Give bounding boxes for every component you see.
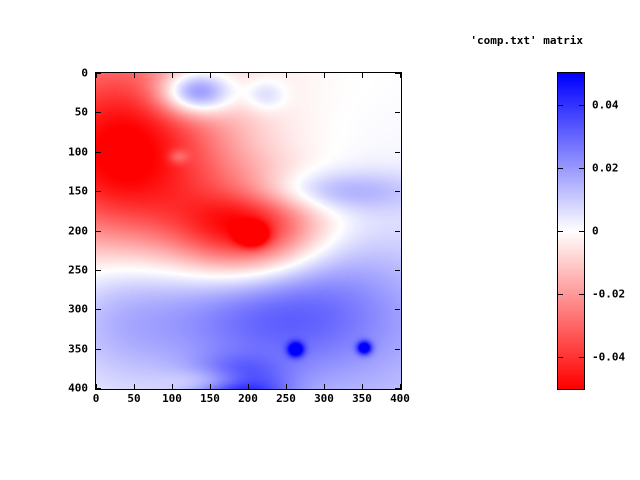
heatmap-canvas[interactable] <box>96 73 401 389</box>
y-tick-mark <box>96 388 101 389</box>
colorbar-tick-label: -0.02 <box>592 287 625 300</box>
x-tick-mark <box>400 384 401 389</box>
colorbar-tick-label: -0.04 <box>592 350 625 363</box>
x-tick-label: 300 <box>314 392 334 405</box>
y-tick-label: 200 <box>68 224 88 237</box>
x-tick-mark-top <box>210 73 211 78</box>
x-tick-mark-top <box>324 73 325 78</box>
colorbar-tick-label: 0 <box>592 224 599 237</box>
y-tick-label: 400 <box>68 382 88 395</box>
y-tick-label: 350 <box>68 342 88 355</box>
y-tick-mark <box>96 231 101 232</box>
colorbar-tick-mark-right <box>579 105 584 106</box>
x-tick-mark-top <box>134 73 135 78</box>
x-tick-mark-top <box>286 73 287 78</box>
y-tick-label: 250 <box>68 263 88 276</box>
y-tick-mark <box>96 349 101 350</box>
colorbar-tick-mark <box>558 294 563 295</box>
y-tick-mark-right <box>395 231 400 232</box>
x-tick-label: 100 <box>162 392 182 405</box>
heatmap-plot-area[interactable] <box>95 72 402 390</box>
colorbar-tick-mark <box>558 105 563 106</box>
x-tick-mark <box>324 384 325 389</box>
colorbar-tick-mark <box>558 231 563 232</box>
colorbar-tick-mark-right <box>579 168 584 169</box>
x-tick-mark <box>172 384 173 389</box>
x-tick-mark-top <box>400 73 401 78</box>
y-tick-mark <box>96 309 101 310</box>
x-tick-mark <box>210 384 211 389</box>
x-tick-mark <box>286 384 287 389</box>
x-tick-mark-top <box>362 73 363 78</box>
y-tick-mark <box>96 73 101 74</box>
colorbar-tick-mark-right <box>579 294 584 295</box>
x-tick-mark-top <box>172 73 173 78</box>
colorbar-tick-mark <box>558 168 563 169</box>
y-tick-mark-right <box>395 191 400 192</box>
y-tick-label: 50 <box>75 106 88 119</box>
y-tick-mark-right <box>395 270 400 271</box>
y-tick-mark-right <box>395 388 400 389</box>
y-tick-mark <box>96 112 101 113</box>
x-tick-label: 0 <box>93 392 100 405</box>
x-tick-label: 200 <box>238 392 258 405</box>
x-tick-label: 50 <box>127 392 140 405</box>
colorbar-tick-label: 0.02 <box>592 161 619 174</box>
x-tick-mark <box>134 384 135 389</box>
y-tick-label: 150 <box>68 185 88 198</box>
y-tick-mark-right <box>395 309 400 310</box>
x-tick-mark-top <box>248 73 249 78</box>
y-tick-mark-right <box>395 349 400 350</box>
colorbar-tick-mark <box>558 357 563 358</box>
plot-root: 'comp.txt' matrix 0501001502002503003504… <box>0 0 640 480</box>
colorbar-tick-mark-right <box>579 231 584 232</box>
colorbar-tick-mark-right <box>579 357 584 358</box>
y-tick-mark-right <box>395 73 400 74</box>
y-tick-label: 300 <box>68 303 88 316</box>
plot-title: 'comp.txt' matrix <box>470 34 583 47</box>
x-tick-label: 400 <box>390 392 410 405</box>
y-tick-mark <box>96 152 101 153</box>
y-tick-mark-right <box>395 152 400 153</box>
y-tick-mark <box>96 191 101 192</box>
y-tick-label: 100 <box>68 145 88 158</box>
x-tick-label: 150 <box>200 392 220 405</box>
x-tick-label: 350 <box>352 392 372 405</box>
x-tick-mark <box>248 384 249 389</box>
y-tick-mark-right <box>395 112 400 113</box>
y-tick-label: 0 <box>81 67 88 80</box>
x-tick-mark <box>362 384 363 389</box>
colorbar-tick-label: 0.04 <box>592 98 619 111</box>
x-tick-label: 250 <box>276 392 296 405</box>
y-tick-mark <box>96 270 101 271</box>
